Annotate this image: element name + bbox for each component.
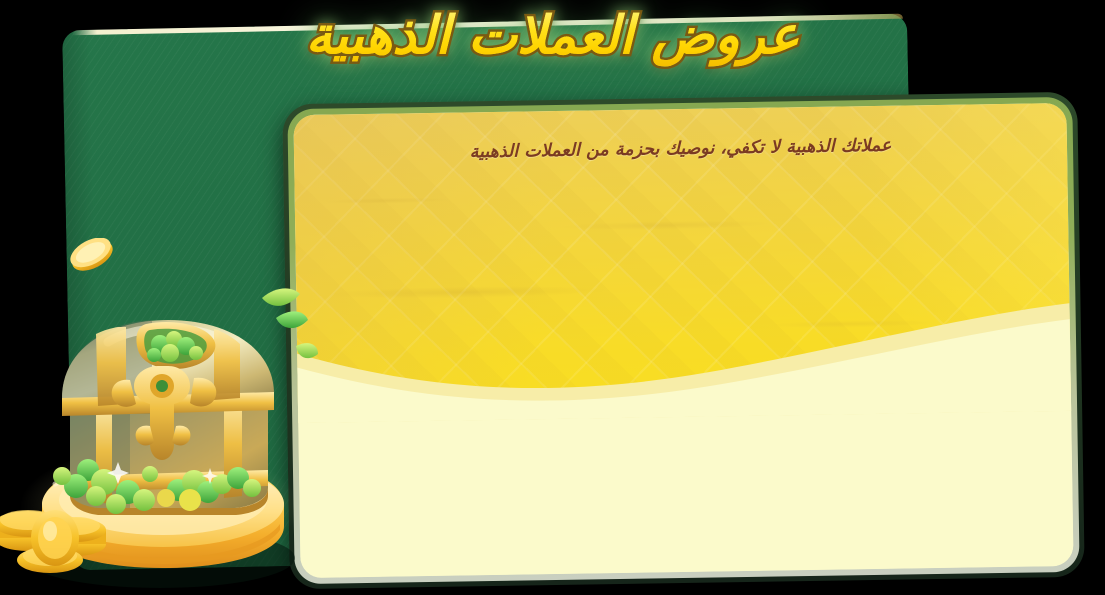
treasure-chest-icon [53,320,274,515]
treasure-chest-artwork [0,238,360,595]
floating-leaf-icon [262,288,318,358]
content-card: عملاتك الذهبية لا تكفي، نوصيك بحزمة من ا… [282,92,1085,589]
flying-coin-icon [66,238,118,277]
gold-cream-wave-divider [294,281,1073,423]
banner-title-stroke: عروض العملات الذهبية [0,6,1105,66]
promo-banner: عملاتك الذهبية لا تكفي، نوصيك بحزمة من ا… [0,0,1105,595]
card-surface: عملاتك الذهبية لا تكفي، نوصيك بحزمة من ا… [293,103,1073,578]
